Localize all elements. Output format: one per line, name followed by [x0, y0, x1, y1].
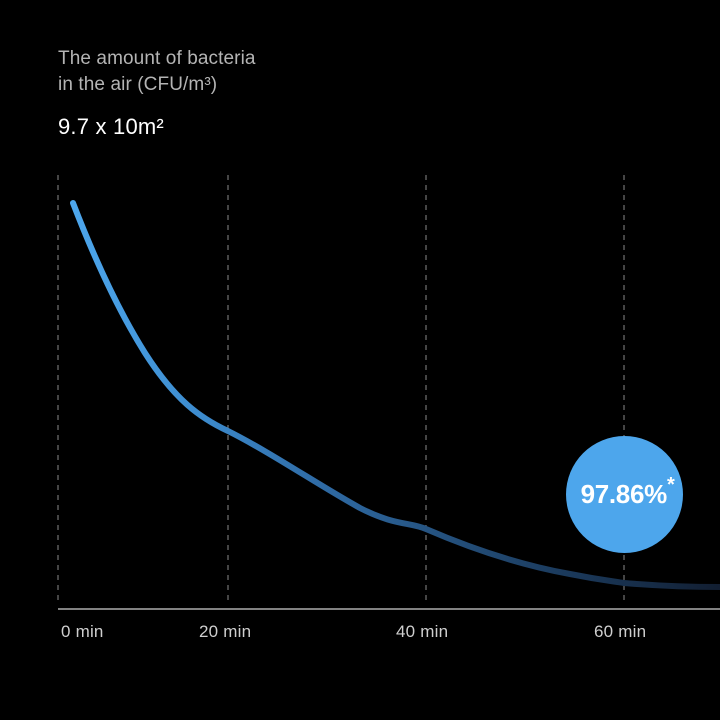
- x-tick-label-20: 20 min: [199, 622, 251, 642]
- x-tick-label-60: 60 min: [594, 622, 646, 642]
- badge-value: 97.86%: [581, 479, 667, 509]
- x-axis-labels: 0 min 20 min 40 min 60 min: [0, 622, 720, 652]
- badge-footnote-marker: *: [667, 474, 674, 496]
- plot-area: [0, 0, 720, 720]
- badge-value-wrap: 97.86%*: [581, 479, 675, 510]
- x-tick-label-40: 40 min: [396, 622, 448, 642]
- chart-canvas: The amount of bacteria in the air (CFU/m…: [0, 0, 720, 720]
- x-tick-label-0: 0 min: [61, 622, 104, 642]
- gridlines: [58, 175, 624, 603]
- reduction-badge: 97.86%*: [566, 436, 683, 553]
